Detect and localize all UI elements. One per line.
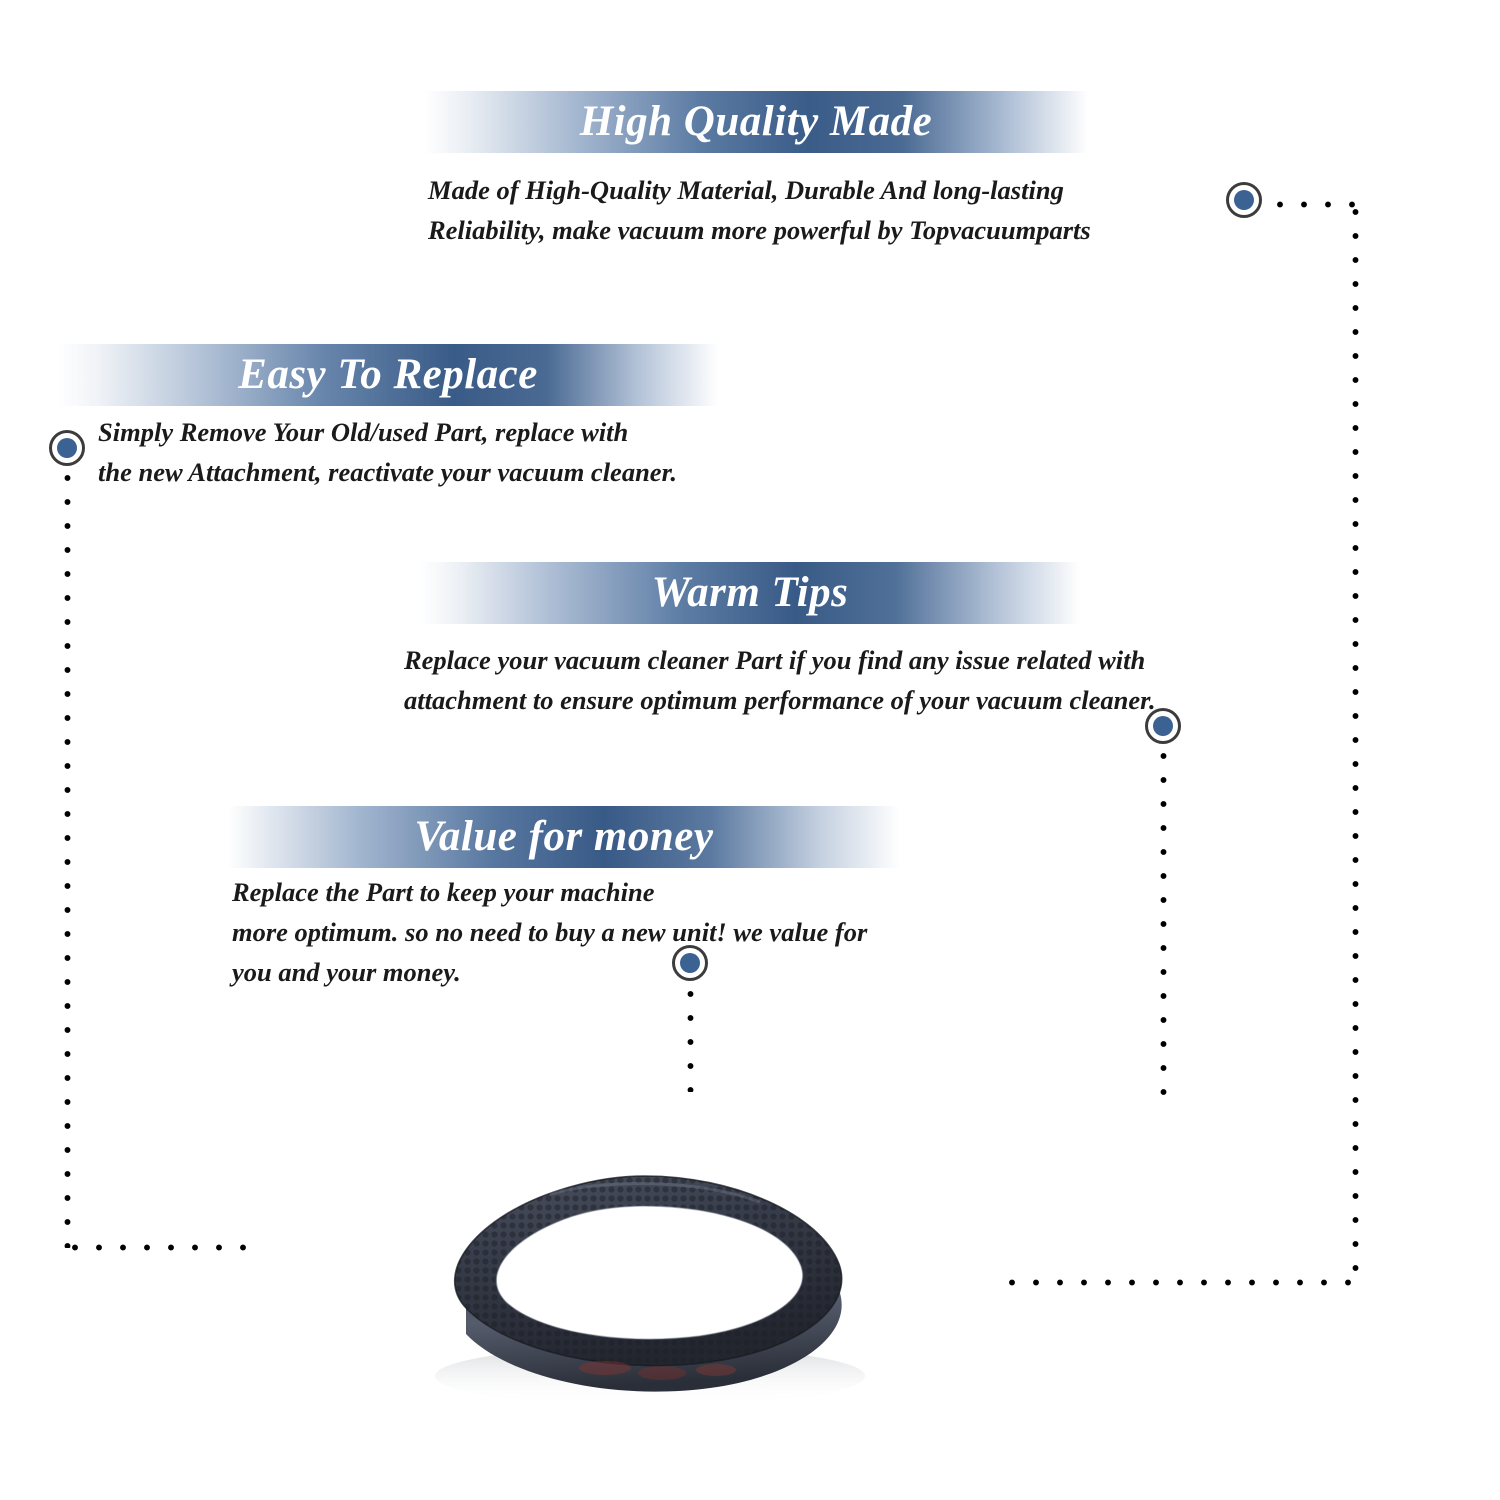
target-dot-icon: [680, 953, 700, 973]
banner-warm-tips: Warm Tips: [420, 562, 1080, 624]
body-easy-to-replace: Simply Remove Your Old/used Part, replac…: [98, 412, 798, 492]
marker-value-money: [672, 945, 708, 981]
connector-bottom-right-horizontal: [1000, 1278, 1356, 1287]
target-dot-icon: [1153, 716, 1173, 736]
heading-easy-to-replace: Easy To Replace: [58, 344, 718, 406]
marker-warm-tips: [1145, 708, 1181, 744]
body-value-for-money: Replace the Part to keep your machine mo…: [232, 872, 952, 992]
connector-bottom-left-horizontal: [63, 1243, 263, 1252]
target-dot-icon: [1234, 190, 1254, 210]
body-high-quality-made: Made of High-Quality Material, Durable A…: [428, 170, 1188, 250]
target-dot-icon: [57, 438, 77, 458]
marker-high-quality: [1226, 182, 1262, 218]
body-warm-tips: Replace your vacuum cleaner Part if you …: [404, 640, 1254, 720]
heading-high-quality-made: High Quality Made: [424, 91, 1088, 153]
connector-left-vertical: [63, 466, 72, 1248]
banner-easy-to-replace: Easy To Replace: [58, 344, 718, 406]
product-image-vacuum-belt: [400, 1140, 890, 1410]
connector-right-vertical: [1351, 200, 1360, 1282]
marker-easy-replace: [49, 430, 85, 466]
heading-value-for-money: Value for money: [228, 806, 900, 868]
heading-warm-tips: Warm Tips: [420, 562, 1080, 624]
connector-warm-tips-vertical: [1159, 744, 1168, 1112]
banner-high-quality-made: High Quality Made: [424, 91, 1088, 153]
banner-value-for-money: Value for money: [228, 806, 900, 868]
connector-value-money-vertical: [686, 982, 695, 1092]
infographic-canvas: High Quality Made Made of High-Quality M…: [0, 0, 1500, 1500]
connector-top-right-horizontal: [1268, 200, 1360, 209]
